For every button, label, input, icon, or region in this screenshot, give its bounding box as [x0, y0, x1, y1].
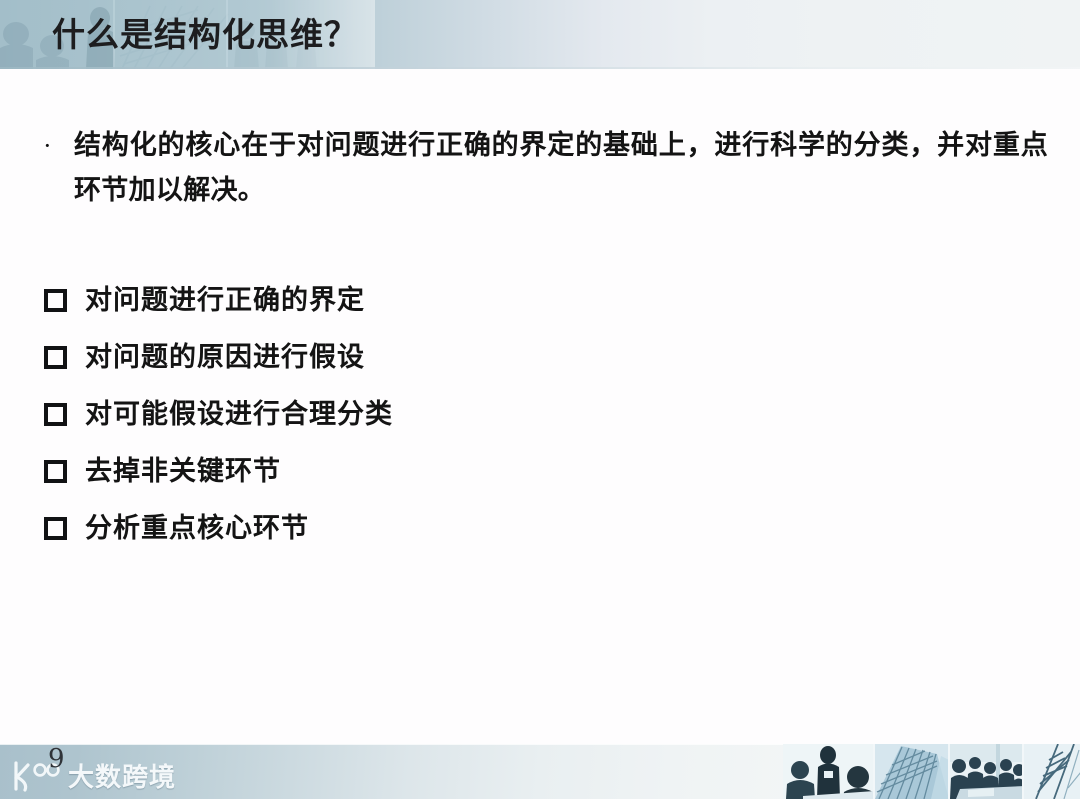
list-item: 对问题进行正确的界定: [38, 272, 938, 329]
slide-footer-bar: 大数跨境 9: [0, 744, 1080, 799]
list-item: 去掉非关键环节: [38, 443, 938, 500]
intro-paragraph-text: 结构化的核心在于对问题进行正确的界定的基础上，进行科学的分类，并对重点环节加以解…: [66, 123, 1048, 213]
checkbox-list: 对问题进行正确的界定 对问题的原因进行假设 对可能假设进行合理分类 去掉非关键环…: [38, 272, 938, 557]
brand-name: 大数跨境: [68, 763, 176, 793]
list-item: 分析重点核心环节: [38, 500, 938, 557]
list-item: 对问题的原因进行假设: [38, 329, 938, 386]
checkbox-square-icon: [38, 289, 72, 312]
list-item-label: 对问题进行正确的界定: [72, 284, 365, 318]
checkbox-square-icon: [38, 403, 72, 426]
list-item-label: 去掉非关键环节: [72, 455, 281, 489]
footer-photo-conference: [950, 744, 1025, 799]
intro-paragraph: · 结构化的核心在于对问题进行正确的界定的基础上，进行科学的分类，并对重点环节加…: [38, 123, 1048, 213]
footer-photo-structure: [1024, 744, 1080, 799]
slide-number: 9: [48, 746, 65, 772]
list-item-label: 分析重点核心环节: [72, 512, 309, 546]
footer-photo-strip: [783, 744, 1080, 799]
bullet-dot-icon: ·: [38, 123, 66, 169]
footer-photo-meeting: [783, 744, 875, 799]
slide-header-band: 什么是结构化思维？: [0, 0, 1080, 69]
checkbox-square-icon: [38, 460, 72, 483]
footer-photo-skyscraper: [875, 744, 950, 799]
slide-content: · 结构化的核心在于对问题进行正确的界定的基础上，进行科学的分类，并对重点环节加…: [0, 69, 1080, 744]
checkbox-square-icon: [38, 346, 72, 369]
presentation-slide: 什么是结构化思维？ · 结构化的核心在于对问题进行正确的界定的基础上，进行科学的…: [0, 0, 1080, 799]
slide-title: 什么是结构化思维？: [52, 14, 358, 56]
checkbox-square-icon: [38, 517, 72, 540]
brand-logo: 大数跨境: [8, 753, 176, 793]
list-item: 对可能假设进行合理分类: [38, 386, 938, 443]
list-item-label: 对问题的原因进行假设: [72, 341, 365, 375]
list-item-label: 对可能假设进行合理分类: [72, 398, 393, 432]
